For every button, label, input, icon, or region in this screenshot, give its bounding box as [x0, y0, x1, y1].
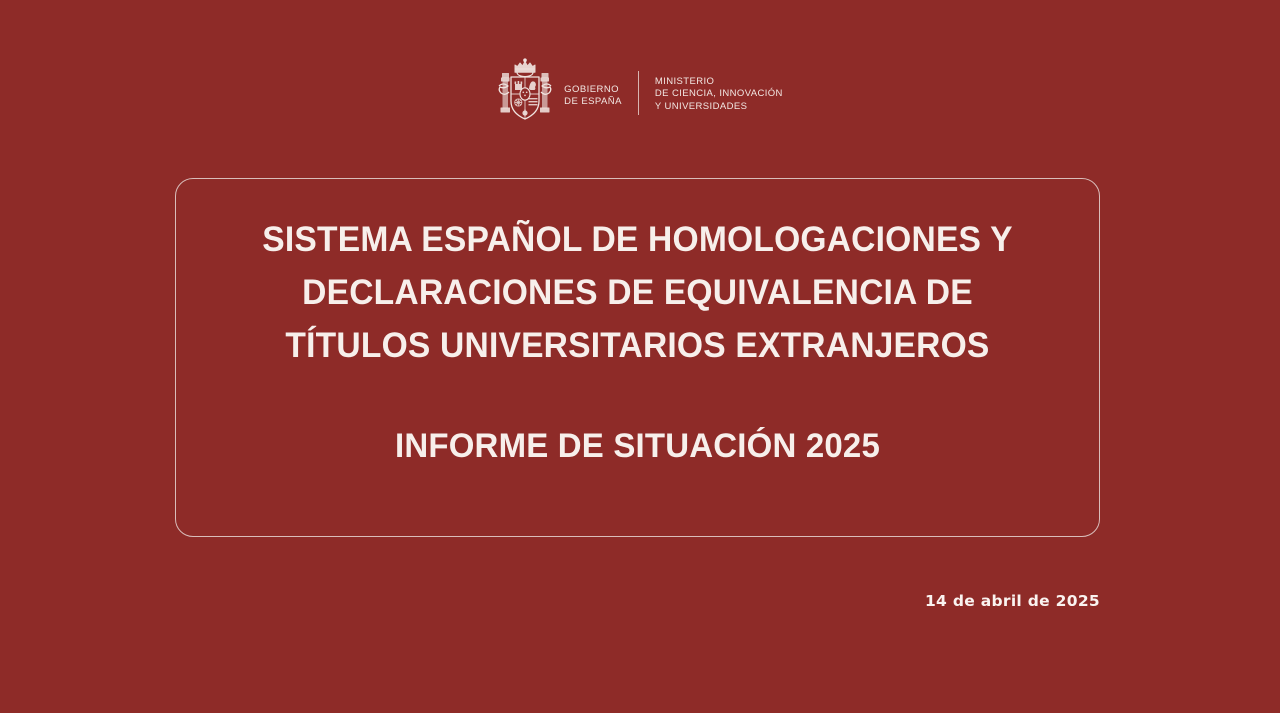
title-frame: SISTEMA ESPAÑOL DE HOMOLOGACIONES Y DECL…: [175, 178, 1100, 537]
institutional-logo: GOBIERNO DE ESPAÑA MINISTERIO DE CIENCIA…: [0, 56, 1280, 124]
ministerio-line-2: DE CIENCIA, INNOVACIÓN: [655, 88, 783, 101]
report-date: 14 de abril de 2025: [925, 592, 1100, 610]
ministerio-line-1: MINISTERIO: [655, 76, 783, 89]
gobierno-de-espana-text: GOBIERNO DE ESPAÑA: [564, 56, 622, 124]
title-line-1: SISTEMA ESPAÑOL DE HOMOLOGACIONES Y: [194, 213, 1080, 266]
ministerio-text: MINISTERIO DE CIENCIA, INNOVACIÓN Y UNIV…: [655, 56, 783, 124]
title-line-3: TÍTULOS UNIVERSITARIOS EXTRANJEROS: [194, 319, 1080, 372]
page-subtitle: INFORME DE SITUACIÓN 2025: [176, 424, 1099, 468]
logo-divider: [638, 71, 639, 115]
gobierno-line-1: GOBIERNO: [564, 84, 622, 97]
title-line-2: DECLARACIONES DE EQUIVALENCIA DE: [194, 266, 1080, 319]
title-slide: GOBIERNO DE ESPAÑA MINISTERIO DE CIENCIA…: [0, 0, 1280, 713]
page-title: SISTEMA ESPAÑOL DE HOMOLOGACIONES Y DECL…: [176, 213, 1099, 372]
logo-inner: GOBIERNO DE ESPAÑA MINISTERIO DE CIENCIA…: [497, 56, 783, 124]
ministerio-line-3: Y UNIVERSIDADES: [655, 101, 783, 114]
spain-coat-of-arms-icon: [497, 56, 553, 124]
subtitle-text: INFORME DE SITUACIÓN 2025: [190, 424, 1085, 468]
gobierno-line-2: DE ESPAÑA: [564, 96, 622, 109]
